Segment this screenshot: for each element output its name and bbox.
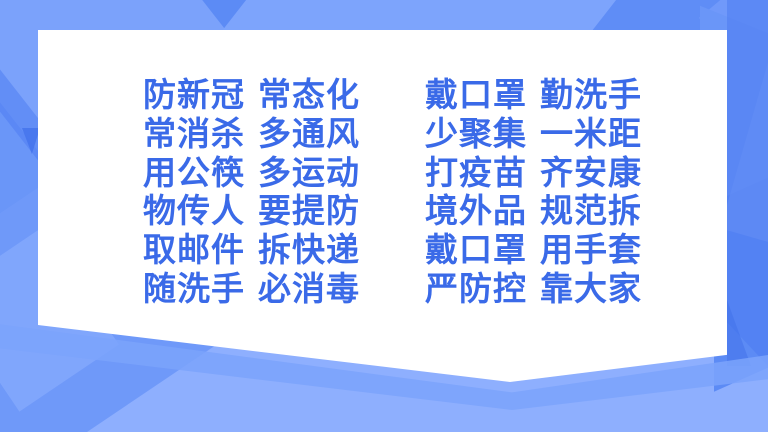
slogan-right-row-6-first: 严防控 bbox=[425, 270, 527, 307]
slogan-left-row-4-first: 物传人 bbox=[143, 192, 245, 229]
slogan-right-row-2: 少聚集一米距 bbox=[425, 115, 643, 154]
slogan-right-row-6: 严防控靠大家 bbox=[425, 270, 643, 309]
slogan-left-row-3-second: 多运动 bbox=[258, 154, 360, 191]
slogan-right-row-1-first: 戴口罩 bbox=[425, 76, 527, 113]
slogan-right-row-6-second: 靠大家 bbox=[540, 270, 642, 307]
slogan-left-row-3: 用公筷多运动 bbox=[143, 154, 425, 193]
slogan-right-row-1-second: 勤洗手 bbox=[540, 76, 642, 113]
slogan-left-row-1-first: 防新冠 bbox=[143, 76, 245, 113]
slogan-left-row-2-second: 多通风 bbox=[258, 115, 360, 152]
poster-canvas: 防新冠常态化 戴口罩勤洗手 常消杀多通风 少聚集一米距 用公筷多运动 打疫苗齐安… bbox=[0, 0, 768, 432]
slogan-left-row-6-second: 必消毒 bbox=[258, 270, 360, 307]
slogan-right-row-4-first: 境外品 bbox=[425, 192, 527, 229]
slogan-right-row-1: 戴口罩勤洗手 bbox=[425, 76, 643, 115]
slogan-left-row-6: 随洗手必消毒 bbox=[143, 270, 425, 309]
slogan-grid: 防新冠常态化 戴口罩勤洗手 常消杀多通风 少聚集一米距 用公筷多运动 打疫苗齐安… bbox=[143, 76, 643, 309]
slogan-left-row-1: 防新冠常态化 bbox=[143, 76, 425, 115]
slogan-right-row-3-second: 齐安康 bbox=[540, 154, 642, 191]
slogan-left-row-2-first: 常消杀 bbox=[143, 115, 245, 152]
slogan-left-row-2: 常消杀多通风 bbox=[143, 115, 425, 154]
slogan-right-row-5-second: 用手套 bbox=[540, 231, 642, 268]
slogan-left-row-5-first: 取邮件 bbox=[143, 231, 245, 268]
slogan-right-row-5: 戴口罩用手套 bbox=[425, 231, 643, 270]
slogan-left-row-5: 取邮件拆快递 bbox=[143, 231, 425, 270]
slogan-right-row-4-second: 规范拆 bbox=[540, 192, 642, 229]
slogan-left-row-4: 物传人要提防 bbox=[143, 192, 425, 231]
slogan-right-row-3: 打疫苗齐安康 bbox=[425, 154, 643, 193]
slogan-right-row-2-second: 一米距 bbox=[540, 115, 642, 152]
slogan-right-row-4: 境外品规范拆 bbox=[425, 192, 643, 231]
slogan-right-row-5-first: 戴口罩 bbox=[425, 231, 527, 268]
slogan-left-row-6-first: 随洗手 bbox=[143, 270, 245, 307]
slogan-right-row-3-first: 打疫苗 bbox=[425, 154, 527, 191]
slogan-left-row-5-second: 拆快递 bbox=[258, 231, 360, 268]
slogan-left-row-1-second: 常态化 bbox=[258, 76, 360, 113]
slogan-left-row-3-first: 用公筷 bbox=[143, 154, 245, 191]
slogan-right-row-2-first: 少聚集 bbox=[425, 115, 527, 152]
slogan-left-row-4-second: 要提防 bbox=[258, 192, 360, 229]
